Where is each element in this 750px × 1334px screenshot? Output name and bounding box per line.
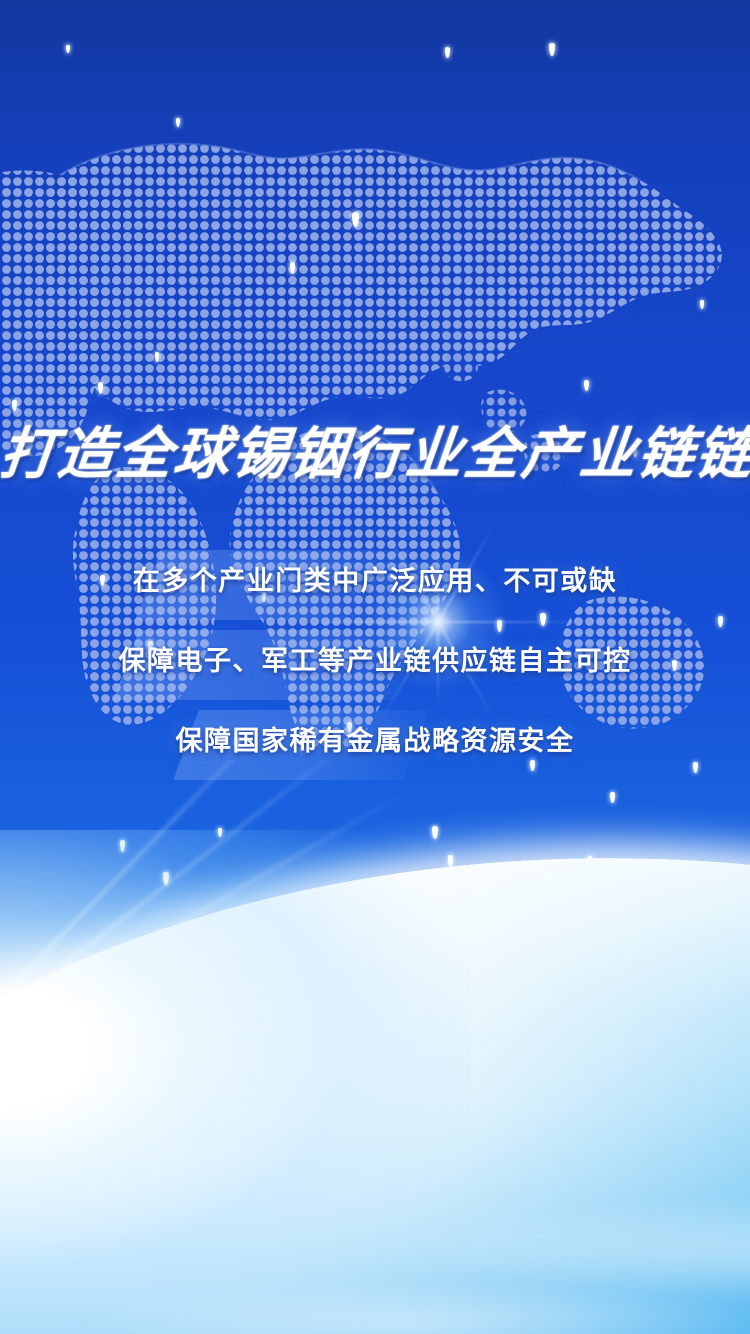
bullet-item: 保障电子、军工等产业链供应链自主可控	[0, 626, 750, 706]
bullet-item: 在多个产业门类中广泛应用、不可或缺	[0, 546, 750, 626]
page-title: 打造全球锡铟行业全产业链链主	[0, 418, 750, 490]
bullet-label: 保障电子、军工等产业链供应链自主可控	[0, 626, 750, 696]
bullet-label: 保障国家稀有金属战略资源安全	[0, 706, 750, 776]
bullet-item: 保障国家稀有金属战略资源安全	[0, 706, 750, 786]
bullet-list: 在多个产业门类中广泛应用、不可或缺 保障电子、军工等产业链供应链自主可控 保障国…	[0, 546, 750, 786]
poster-root: 打造全球锡铟行业全产业链链主 在多个产业门类中广泛应用、不可或缺 保障电子、军工…	[0, 0, 750, 1334]
bullet-label: 在多个产业门类中广泛应用、不可或缺	[0, 546, 750, 616]
